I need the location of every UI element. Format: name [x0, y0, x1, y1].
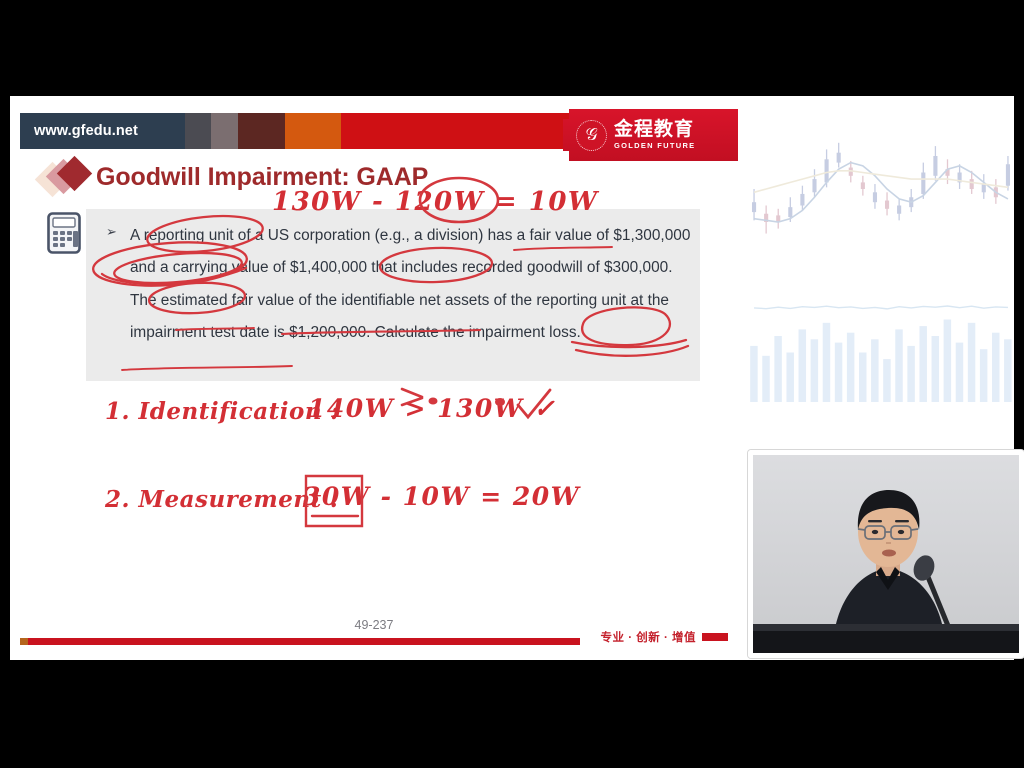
- presenter-video-frame: [748, 450, 1024, 658]
- presenter-video-panel[interactable]: [748, 450, 1024, 658]
- site-url-text: www.gfedu.net: [34, 123, 138, 139]
- header-segment-3: [211, 113, 238, 149]
- annotation-step2-expression: 30W - 10W = 20W: [303, 482, 580, 511]
- slide-slogan: 专业 · 创新 · 增值: [601, 629, 696, 645]
- footer-segment-2: [28, 638, 580, 645]
- diamond-bullet-icon: [40, 160, 92, 194]
- header-segment-4: [238, 113, 285, 149]
- brand-logo-text: 金程教育 GOLDEN FUTURE: [614, 120, 695, 150]
- page-title: Goodwill Impairment: GAAP: [96, 163, 428, 192]
- stock-chart-watermark: [748, 102, 1014, 402]
- annotation-step2-label: 2. Measurement :: [105, 486, 339, 513]
- slide-header-bar: www.gfedu.net 金程教育 GOLDEN FUTURE: [20, 113, 738, 149]
- bullet-arrow-icon: ➢: [106, 224, 117, 240]
- volume-bars: [750, 320, 1011, 403]
- brand-logo-plaque: 金程教育 GOLDEN FUTURE: [563, 109, 738, 161]
- video-player-screen: www.gfedu.net 金程教育 GOLDEN FUTURE Goodwil…: [0, 0, 1024, 768]
- brand-name-en: GOLDEN FUTURE: [614, 142, 695, 150]
- slide-body-block: ➢ A reporting unit of a US corporation (…: [106, 220, 692, 350]
- slide-body-text: A reporting unit of a US corporation (e.…: [130, 220, 692, 350]
- seal-logo-icon: [576, 120, 607, 151]
- video-content-area: www.gfedu.net 金程教育 GOLDEN FUTURE Goodwil…: [10, 96, 1014, 660]
- footer-segment-1: [20, 638, 28, 645]
- baseline-trend-line: [754, 306, 1008, 309]
- header-segment-5: [285, 113, 341, 149]
- brand-name-cn: 金程教育: [614, 120, 695, 139]
- calculator-icon: [47, 212, 81, 254]
- annotation-step1-expression: 140W > 130W ✓: [308, 394, 556, 423]
- site-url-badge: www.gfedu.net: [20, 113, 163, 149]
- slogan-accent-block: [702, 633, 728, 641]
- presentation-slide: www.gfedu.net 金程教育 GOLDEN FUTURE Goodwil…: [10, 102, 738, 654]
- candlestick-chart: [748, 102, 1014, 402]
- candle-bodies: [752, 143, 1010, 234]
- header-segment-2: [185, 113, 211, 149]
- slide-title-row: Goodwill Impairment: GAAP: [40, 160, 428, 194]
- annotation-step1-label: 1. Identification :: [105, 398, 340, 425]
